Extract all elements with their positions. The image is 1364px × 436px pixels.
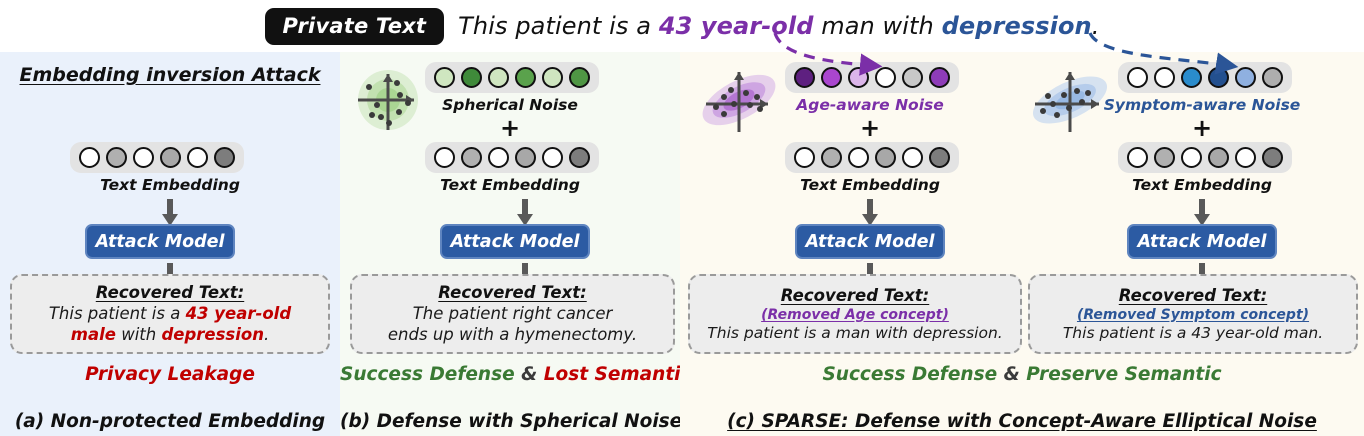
noise-chip — [848, 67, 869, 88]
panel-b-status-lost: Lost Semantic — [544, 364, 692, 385]
recovered-line2-mid: with — [116, 325, 162, 344]
panel-c-age-recovered-title: Recovered Text: — [781, 286, 929, 305]
noise-chip — [1208, 67, 1229, 88]
panel-b-noise-label: Spherical Noise — [360, 96, 660, 114]
recovered-age-leak: 43 year-old — [186, 304, 292, 323]
embedding-chip — [821, 147, 842, 168]
panel-c-sparse: Age-aware Noise + Text Embedding Attack … — [680, 52, 1364, 436]
noise-chip — [929, 67, 950, 88]
sentence-symptom-concept: depression — [942, 12, 1092, 40]
embedding-chip — [902, 147, 923, 168]
panel-b-status-success: Success Defense — [340, 364, 515, 385]
arrow-embedding-to-model — [516, 199, 534, 227]
noise-chip — [875, 67, 896, 88]
panel-c-symptom-attack-model: Attack Model — [1127, 224, 1277, 259]
panel-c-symptom-noise-row — [1118, 62, 1292, 93]
panel-c-age-recovered-box: Recovered Text: (Removed Age concept) Th… — [688, 274, 1022, 354]
recovered-gender-leak: male — [71, 325, 116, 344]
panel-c-symptom-removed-concept: (Removed Symptom concept) — [1077, 307, 1309, 323]
embedding-chip — [160, 147, 181, 168]
panel-b-spherical-noise: Spherical Noise + Text Embedding Attack … — [340, 52, 680, 436]
panel-c-age-plus-sign: + — [720, 116, 1020, 140]
embedding-chip — [1235, 147, 1256, 168]
panel-b-caption: (b) Defense with Spherical Noise — [340, 411, 680, 432]
panel-c-caption: (c) SPARSE: Defense with Concept-Aware E… — [680, 411, 1364, 432]
noise-chip — [794, 67, 815, 88]
panel-b-status-amp: & — [521, 364, 537, 385]
embedding-chip — [542, 147, 563, 168]
panel-c-symptom-recovered-body: This patient is a 43 year-old man. — [1063, 324, 1323, 343]
panel-b-text-embedding-row — [425, 142, 599, 173]
panel-c-symptom-recovered-box: Recovered Text: (Removed Symptom concept… — [1028, 274, 1358, 354]
recovered-line2-end: . — [264, 325, 269, 344]
panel-c-age-embedding-label: Text Embedding — [720, 176, 1020, 194]
panel-a-recovered-body: This patient is a 43 year-old — [49, 304, 291, 324]
panel-a-attack-model: Attack Model — [85, 224, 235, 259]
embedding-chip — [461, 147, 482, 168]
sentence-part-1: This patient is a — [458, 12, 659, 40]
panel-c-status-preserve: Preserve Semantic — [1026, 364, 1221, 385]
panel-a-embedding-label: Text Embedding — [0, 176, 340, 194]
arrow-embedding-to-model — [161, 199, 179, 227]
panel-c-status: Success Defense & Preserve Semantic — [680, 364, 1364, 385]
panel-b-recovered-line-1: The patient right cancer — [413, 304, 613, 324]
panel-a-non-protected: Embedding inversion Attack Text Embeddin… — [0, 52, 340, 436]
sentence-part-3: . — [1092, 12, 1100, 40]
panel-b-attack-model: Attack Model — [440, 224, 590, 259]
panel-b-recovered-title: Recovered Text: — [438, 283, 586, 302]
panel-c-symptom-plus-sign: + — [1052, 116, 1352, 140]
panel-c-status-success: Success Defense — [822, 364, 997, 385]
embedding-chip — [1208, 147, 1229, 168]
noise-chip — [515, 67, 536, 88]
noise-chip — [488, 67, 509, 88]
sentence-part-2: man with — [813, 12, 941, 40]
panel-c-age-noise-label: Age-aware Noise — [720, 96, 1020, 114]
panel-a-title: Embedding inversion Attack — [0, 64, 340, 86]
noise-chip — [569, 67, 590, 88]
embedding-chip — [106, 147, 127, 168]
panel-c-symptom-text-embedding-row — [1118, 142, 1292, 173]
recovered-symptom-leak: depression — [161, 325, 264, 344]
figure-root: Private Text This patient is a 43 year-o… — [0, 0, 1364, 436]
embedding-chip — [1181, 147, 1202, 168]
panel-b-plus-sign: + — [360, 116, 660, 140]
panel-c-age-noise-row — [785, 62, 959, 93]
embedding-chip — [488, 147, 509, 168]
panel-c-age-recovered-body: This patient is a man with depression. — [707, 324, 1002, 343]
sentence-age-concept: 43 year-old — [659, 12, 814, 40]
private-text-badge: Private Text — [265, 8, 445, 45]
panel-a-recovered-box: Recovered Text: This patient is a 43 yea… — [10, 274, 330, 354]
panel-b-spherical-noise-row — [425, 62, 599, 93]
embedding-chip — [1154, 147, 1175, 168]
arrow-embedding-to-model — [1193, 199, 1211, 227]
panel-a-caption: (a) Non-protected Embedding — [0, 411, 340, 432]
embedding-chip — [515, 147, 536, 168]
noise-chip — [821, 67, 842, 88]
noise-chip — [542, 67, 563, 88]
arrow-embedding-to-model — [861, 199, 879, 227]
panel-a-status-text: Privacy Leakage — [85, 364, 255, 385]
noise-chip — [1154, 67, 1175, 88]
panel-b-recovered-line-2: ends up with a hymenectomy. — [388, 325, 637, 345]
panel-c-age-attack-model: Attack Model — [795, 224, 945, 259]
embedding-chip — [214, 147, 235, 168]
embedding-chip — [1262, 147, 1283, 168]
embedding-chip — [1127, 147, 1148, 168]
panel-c-age-text-embedding-row — [785, 142, 959, 173]
panel-a-text-embedding-row — [70, 142, 244, 173]
panel-a-recovered-title: Recovered Text: — [96, 283, 244, 302]
panel-c-age-removed-concept: (Removed Age concept) — [761, 307, 949, 323]
panels-container: Embedding inversion Attack Text Embeddin… — [0, 52, 1364, 436]
noise-chip — [1181, 67, 1202, 88]
embedding-chip — [929, 147, 950, 168]
panel-b-embedding-label: Text Embedding — [360, 176, 660, 194]
embedding-chip — [848, 147, 869, 168]
private-text-header: Private Text This patient is a 43 year-o… — [0, 0, 1364, 52]
panel-c-status-amp: & — [1004, 364, 1020, 385]
embedding-chip — [79, 147, 100, 168]
embedding-chip — [187, 147, 208, 168]
embedding-chip — [569, 147, 590, 168]
noise-chip — [1262, 67, 1283, 88]
panel-a-status: Privacy Leakage — [0, 364, 340, 385]
panel-a-recovered-body-2: male with depression. — [71, 325, 269, 345]
private-text-sentence: This patient is a 43 year-old man with d… — [458, 12, 1099, 40]
recovered-line1-prefix: This patient is a — [49, 304, 186, 323]
noise-chip — [434, 67, 455, 88]
panel-b-recovered-box: Recovered Text: The patient right cancer… — [350, 274, 675, 354]
panel-c-symptom-embedding-label: Text Embedding — [1052, 176, 1352, 194]
panel-c-symptom-recovered-title: Recovered Text: — [1119, 286, 1267, 305]
noise-chip — [461, 67, 482, 88]
noise-chip — [1235, 67, 1256, 88]
panel-b-status: Success Defense & Lost Semantic — [340, 364, 680, 385]
embedding-chip — [133, 147, 154, 168]
panel-c-symptom-noise-label: Symptom-aware Noise — [1052, 96, 1352, 114]
embedding-chip — [794, 147, 815, 168]
noise-chip — [902, 67, 923, 88]
embedding-chip — [875, 147, 896, 168]
embedding-chip — [434, 147, 455, 168]
noise-chip — [1127, 67, 1148, 88]
